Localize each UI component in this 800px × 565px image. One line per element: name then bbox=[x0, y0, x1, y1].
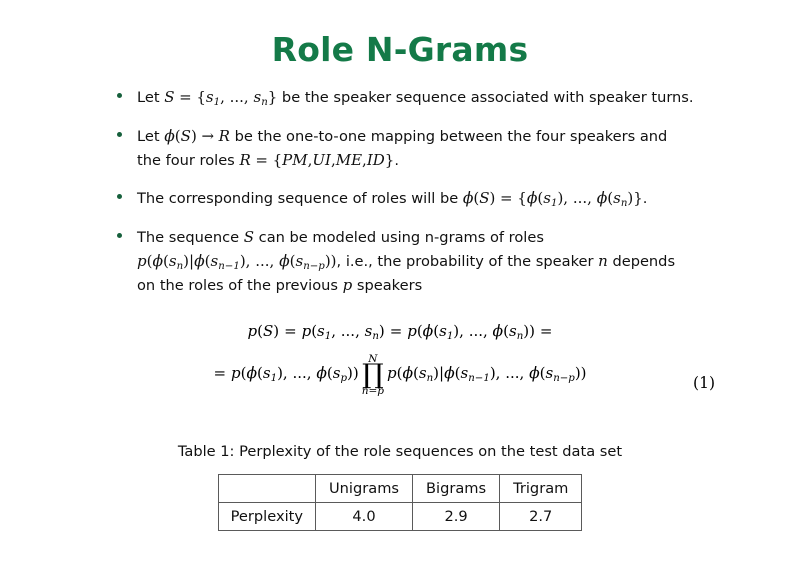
page-title: Role N-Grams bbox=[0, 30, 800, 69]
table-row: Perplexity 4.0 2.9 2.7 bbox=[218, 503, 582, 531]
bullet-line: on the roles of the previous p speakers bbox=[137, 274, 712, 297]
perplexity-table-wrapper: Unigrams Bigrams Trigram Perplexity 4.0 … bbox=[0, 474, 800, 531]
table-header-trigram: Trigram bbox=[500, 475, 582, 503]
table-caption: Table 1: Perplexity of the role sequence… bbox=[0, 443, 800, 460]
table-header-bigrams: Bigrams bbox=[413, 475, 500, 503]
presentation-slide: Role N-Grams Let S = {s1, ..., sn} be th… bbox=[0, 0, 800, 565]
equation-line-1: p(S) = p(s1, ..., sn) = p(ϕ(s1), ..., ϕ(… bbox=[0, 322, 800, 342]
bullet-dot-icon bbox=[117, 93, 122, 98]
bullet-line: p(ϕ(sn)|ϕ(sn−1), ..., ϕ(sn−p)), i.e., th… bbox=[137, 250, 712, 274]
table-row-label: Perplexity bbox=[218, 503, 315, 531]
bullet-list: Let S = {s1, ..., sn} be the speaker seq… bbox=[112, 86, 712, 312]
display-equation: p(S) = p(s1, ..., sn) = p(ϕ(s1), ..., ϕ(… bbox=[0, 322, 800, 395]
equation-number: (1) bbox=[693, 374, 715, 392]
bullet-line: The corresponding sequence of roles will… bbox=[137, 187, 712, 211]
bullet-line: The sequence S can be modeled using n-gr… bbox=[137, 226, 712, 249]
table-cell-unigrams: 4.0 bbox=[316, 503, 413, 531]
bullet-dot-icon bbox=[117, 233, 122, 238]
bullet-dot-icon bbox=[117, 194, 122, 199]
table-cell-bigrams: 2.9 bbox=[413, 503, 500, 531]
bullet-dot-icon bbox=[117, 132, 122, 137]
product-lower-limit: n=p bbox=[362, 386, 384, 397]
table-corner-cell bbox=[218, 475, 315, 503]
product-operator: N∏n=p bbox=[362, 354, 384, 396]
product-symbol: ∏ bbox=[362, 363, 384, 386]
list-item: Let ϕ(S) → R be the one-to-one mapping b… bbox=[112, 125, 712, 172]
bullet-line: the four roles R = {PM,UI,ME,ID}. bbox=[137, 149, 712, 172]
table-header-unigrams: Unigrams bbox=[316, 475, 413, 503]
equation-line-2: = p(ϕ(s1), ..., ϕ(sp))N∏n=pp(ϕ(sn)|ϕ(sn−… bbox=[0, 353, 800, 395]
bullet-line: Let S = {s1, ..., sn} be the speaker seq… bbox=[137, 86, 712, 110]
list-item: Let S = {s1, ..., sn} be the speaker seq… bbox=[112, 86, 712, 110]
list-item: The sequence S can be modeled using n-gr… bbox=[112, 226, 712, 297]
table-header-row: Unigrams Bigrams Trigram bbox=[218, 475, 582, 503]
bullet-line: Let ϕ(S) → R be the one-to-one mapping b… bbox=[137, 125, 712, 149]
table-cell-trigram: 2.7 bbox=[500, 503, 582, 531]
list-item: The corresponding sequence of roles will… bbox=[112, 187, 712, 211]
perplexity-table: Unigrams Bigrams Trigram Perplexity 4.0 … bbox=[218, 474, 583, 531]
